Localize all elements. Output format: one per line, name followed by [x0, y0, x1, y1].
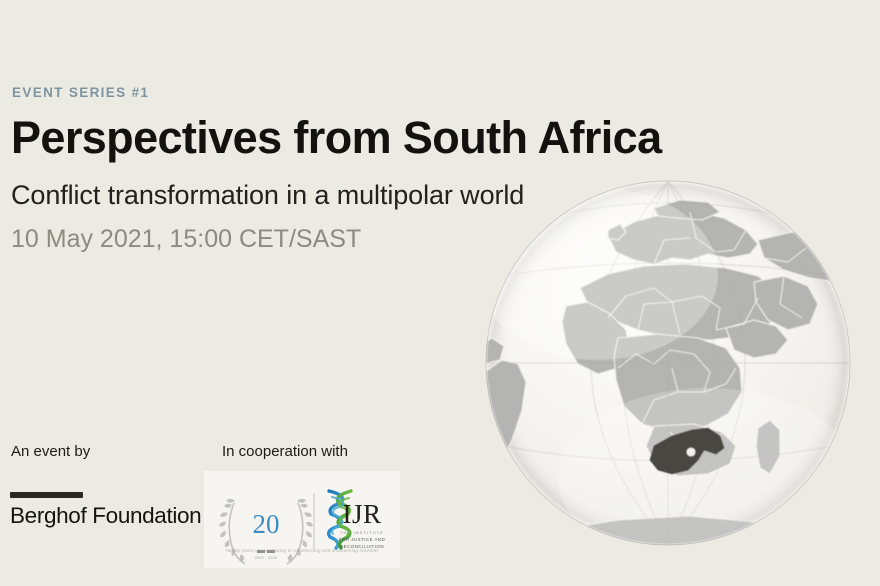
- ijr-partner-logo: 20 2000 - 2020 IJR THE INSTITUTE FOR JUS…: [204, 471, 400, 568]
- ijr-acronym: IJR: [342, 499, 381, 529]
- ijr-fullname-line1: THE INSTITUTE: [340, 530, 384, 535]
- berghof-wordmark: Berghof Foundation: [10, 505, 200, 528]
- south-africa-highlight: [650, 428, 724, 474]
- anniversary-wreath-icon: 20 2000 - 2020: [219, 499, 313, 564]
- ijr-tagline: Twenty years of contributing to transfor…: [214, 548, 390, 553]
- event-datetime: 10 May 2021, 15:00 CET/SAST: [11, 225, 531, 254]
- event-announcement-poster: EVENT SERIES #1 Perspectives from South …: [0, 0, 880, 586]
- anniversary-number: 20: [253, 509, 280, 539]
- cooperation-label: In cooperation with: [222, 444, 348, 461]
- page-title: Perspectives from South Africa: [11, 115, 531, 162]
- berghof-bar-icon: [10, 492, 83, 498]
- ijr-fullname-line2: FOR JUSTICE AND: [339, 537, 386, 542]
- event-header: EVENT SERIES #1 Perspectives from South …: [11, 86, 531, 253]
- organiser-label: An event by: [11, 444, 90, 461]
- anniversary-years: 2000 - 2020: [255, 556, 277, 560]
- event-series-eyebrow: EVENT SERIES #1: [12, 86, 531, 101]
- event-subtitle: Conflict transformation in a multipolar …: [11, 180, 531, 211]
- berghof-foundation-logo: Berghof Foundation: [10, 492, 200, 528]
